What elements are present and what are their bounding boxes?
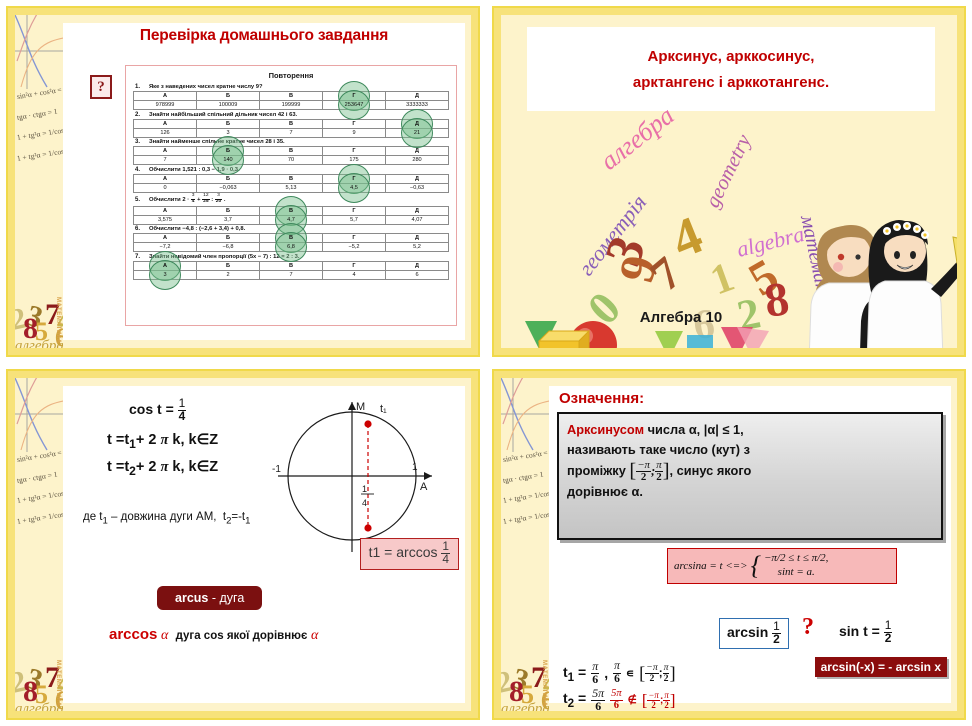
answer-option-value[interactable]: 6,8 [260, 243, 323, 252]
question-text: Обчислити 2 · 34 + 1225 : 320 . [149, 194, 225, 205]
table-row: 714070175280 [134, 156, 449, 165]
answer-option-letter[interactable]: А [134, 119, 197, 128]
homework-sheet-card: Перевірка домашнього завдання ? Повторен… [63, 23, 465, 340]
t1-membership-symbol: ∊ [626, 666, 634, 680]
solution-equation-t2: t =t2+ 2 π k, k∈Z [107, 459, 218, 478]
slide4-inner: sin²α + cos²α = 1 tgα · ctgα = 1 1 + tg²… [501, 378, 957, 711]
fraction-denominator: 6 [613, 674, 621, 686]
t1-member-fraction: π 6 [613, 661, 621, 685]
decor-formula-3: 1 + tg²α = 1/cos²α [502, 509, 549, 525]
decor-formulas: sin²α + cos²α = 1 tgα · ctgα = 1 1 + tg²… [17, 456, 63, 538]
arccos-result-label: t1 = arccos [369, 544, 438, 560]
t1-fraction: π 6 [591, 661, 599, 686]
slide3-frame: sin²α + cos²α = 1 tgα · ctgα = 1 1 + tg²… [6, 369, 480, 720]
answer-option-value[interactable]: 5,7 [323, 215, 386, 224]
svg-text:алгебра: алгебра [15, 338, 63, 348]
slide-arccos: sin²α + cos²α = 1 tgα · ctgα = 1 1 + tg²… [0, 363, 486, 726]
arccos-alpha-symbol: α [161, 628, 168, 643]
question-text: Знайти найбільший спільний дільник чисел… [149, 112, 297, 118]
decor-formula-1: tgα · ctgα = 1 [16, 468, 63, 484]
svg-text:3: 3 [509, 662, 532, 698]
answer-option-letter[interactable]: Б [197, 206, 260, 215]
decoration-column: sin²α + cos²α = 1 tgα · ctgα = 1 1 + tg²… [15, 15, 63, 348]
answer-option-letter[interactable]: Д [386, 92, 449, 101]
slide-arcsin-definition: sin²α + cos²α = 1 tgα · ctgα = 1 1 + tg²… [486, 363, 972, 726]
decor-formula-3: 1 + tg²α = 1/cos²α [16, 146, 63, 162]
answer-option-letter[interactable]: Б [197, 174, 260, 183]
table-row: АБВГД [134, 147, 449, 156]
answer-option-letter[interactable]: Г [323, 261, 386, 270]
solution-equation-t1: t =t1+ 2 π k, k∈Z [107, 432, 218, 451]
decor-formula-1: tgα · ctgα = 1 [502, 468, 549, 484]
decor-formula-1: tgα · ctgα = 1 [16, 105, 63, 121]
t2-fraction: 5π 6 [591, 688, 605, 711]
question-number: 3. [135, 139, 145, 145]
arccos-result-fraction: 1 4 [441, 541, 450, 566]
arccos-result-box: t1 = arccos 1 4 [360, 538, 459, 570]
slide-homework-check: sin²α + cos²α = 1 tgα · ctgα = 1 1 + tg²… [0, 0, 486, 363]
t1-label: t1 = [563, 664, 586, 684]
system-brace-icon: { [751, 557, 761, 575]
arccos-content-card: cos t = 1 4 t =t1+ 2 π k, k∈Z t =t2+ 2 π… [63, 386, 465, 703]
slide4-frame: sin²α + cos²α = 1 tgα · ctgα = 1 1 + tg²… [492, 369, 966, 720]
table-row: 12637921 [134, 128, 449, 137]
answer-option-value[interactable]: 6 [386, 270, 449, 279]
topic-title-line1: Арксинус, арккосинус, [648, 48, 815, 65]
svg-text:t₁: t₁ [380, 403, 387, 415]
slide-deck: sin²α + cos²α = 1 tgα · ctgα = 1 1 + tg²… [0, 0, 972, 726]
answer-option-value[interactable]: 253647 [323, 101, 386, 110]
graph-decor-icon [15, 378, 63, 454]
svg-text:3: 3 [23, 299, 46, 335]
answer-option-letter[interactable]: А [134, 234, 197, 243]
question-prompt: 3.Знайти найменше спільне кратне чисел 2… [135, 139, 449, 145]
svg-text:3: 3 [23, 662, 46, 698]
answer-option-letter[interactable]: Б [197, 92, 260, 101]
svg-text:6: 6 [55, 323, 63, 348]
svg-text:1: 1 [362, 484, 367, 494]
arcus-ukrainian-word: дуга [220, 591, 245, 605]
svg-text:7: 7 [45, 661, 60, 694]
where-note: де t1 – довжина дуги АМ, t2=-t1 [83, 511, 250, 526]
decor-formula-0: sin²α + cos²α = 1 [502, 447, 549, 463]
arcsin-value-box[interactable]: arcsin 1 2 [719, 618, 789, 649]
arcus-definition-pill: arcus - дуга [157, 586, 262, 610]
answer-option-value[interactable]: −5,2 [323, 243, 386, 252]
answer-option-letter[interactable]: Д [386, 174, 449, 183]
answer-option-value[interactable]: 3,575 [134, 215, 197, 224]
t1-comma: , [604, 665, 608, 681]
definition-keyword: Арксинусом [567, 422, 644, 437]
decoration-column: sin²α + cos²α = 1 tgα · ctgα = 1 1 + tg²… [501, 378, 549, 711]
answer-table: АБВГД12637921 [133, 119, 449, 138]
definition-part5: дорівнює α. [567, 484, 643, 499]
answer-option-letter[interactable]: Г [323, 234, 386, 243]
answer-option-letter[interactable]: В [260, 261, 323, 270]
question-mark-icon: ? [802, 614, 814, 641]
table-row: 0−0,0635,134,5−0,63 [134, 183, 449, 192]
table-row: АБВГД [134, 92, 449, 101]
svg-text:7: 7 [45, 298, 60, 331]
svg-text:-1: -1 [272, 464, 281, 475]
answer-option-letter[interactable]: Г [323, 147, 386, 156]
svg-text:4: 4 [362, 498, 367, 508]
arccos-description-alpha: α [311, 628, 318, 643]
slide2-frame: Арксинус, арккосинус, арктангенс і аркко… [492, 6, 966, 357]
decor-vertical-word: МАТЕМАТИКА [55, 660, 61, 707]
table-row: АБВГД [134, 261, 449, 270]
definition-heading: Означення: [559, 390, 644, 407]
question-prompt: 4.Обчислити 1,521 : 0,3 − 1,9 · 0,3. [135, 167, 449, 173]
svg-text:5: 5 [35, 680, 48, 709]
answer-option-value[interactable]: 199999 [260, 101, 323, 110]
answer-option-value[interactable]: 7 [260, 270, 323, 279]
arcsin-odd-property-box: arcsin(-x) = - arcsin x [815, 657, 947, 677]
subject-label: Алгебра 10 [501, 309, 957, 326]
answer-option-letter[interactable]: А [134, 206, 197, 215]
table-row: 32746 [134, 270, 449, 279]
fraction-denominator: 4 [178, 411, 187, 423]
t1-interval: [−π2;π2] [639, 663, 675, 684]
question-prompt: 1.Яке з наведених чисел кратне числу 9? [135, 84, 449, 90]
question-text: Яке з наведених чисел кратне числу 9? [149, 84, 263, 90]
slide-topic-title: Арксинус, арккосинус, арктангенс і аркко… [486, 0, 972, 363]
svg-text:алгебра: алгебра [595, 109, 680, 176]
answer-option-value[interactable]: 100009 [197, 101, 260, 110]
answer-option-value[interactable]: 3,7 [197, 215, 260, 224]
answer-option-value[interactable]: 21 [386, 128, 449, 137]
svg-text:6: 6 [55, 686, 63, 711]
fraction-denominator: 4 [441, 554, 450, 566]
answer-option-value[interactable]: 7 [134, 156, 197, 165]
t2-member-fraction: 5π 6 [610, 689, 623, 711]
answer-option-value[interactable]: 7 [260, 128, 323, 137]
answer-option-letter[interactable]: Д [386, 234, 449, 243]
svg-text:2: 2 [15, 664, 29, 699]
answer-option-value[interactable]: 3 [134, 270, 197, 279]
answer-option-value[interactable]: 4,07 [386, 215, 449, 224]
answer-option-value[interactable]: 140 [197, 156, 260, 165]
answer-option-letter[interactable]: Г [323, 206, 386, 215]
answer-table: АБВГД0−0,0635,134,5−0,63 [133, 174, 449, 193]
answer-table: АБВГД−7,2−6,86,8−5,25,2 [133, 233, 449, 252]
answer-option-letter[interactable]: Д [386, 147, 449, 156]
answer-option-letter[interactable]: В [260, 119, 323, 128]
answer-table: АБВГД714070175280 [133, 146, 449, 165]
numbers-decor-icon: 2 3 8 5 7 4 6 0 алгебра [501, 621, 549, 711]
question-text: Обчислити −4,8 : (−2,6 + 3,4) + 0,8. [149, 226, 245, 232]
table-row: АБВГД [134, 174, 449, 183]
answer-option-value[interactable]: 978999 [134, 101, 197, 110]
graph-decor-icon [501, 378, 549, 454]
definition-part3: проміжку [567, 462, 626, 477]
interval-bracket-left: [ [629, 460, 636, 482]
answer-option-value[interactable]: −0,63 [386, 183, 449, 192]
cos-equation-label: cos t = [129, 401, 174, 417]
answer-table: АБВГД32746 [133, 261, 449, 280]
answer-table: АБВГД9789991000091999992536473333333 [133, 91, 449, 110]
svg-text:4: 4 [663, 204, 711, 270]
table-row: 9789991000091999992536473333333 [134, 101, 449, 110]
svg-text:8: 8 [23, 312, 38, 345]
table-row: −7,2−6,86,8−5,25,2 [134, 243, 449, 252]
decor-formulas: sin²α + cos²α = 1 tgα · ctgα = 1 1 + tg²… [503, 456, 549, 538]
slide1-frame: sin²α + cos²α = 1 tgα · ctgα = 1 1 + tg²… [6, 6, 480, 357]
answer-option-value[interactable]: 5,13 [260, 183, 323, 192]
slide2-inner: Арксинус, арккосинус, арктангенс і аркко… [501, 15, 957, 348]
answer-option-value[interactable]: −0,063 [197, 183, 260, 192]
answer-option-letter[interactable]: Б [197, 261, 260, 270]
decor-formulas: sin²α + cos²α = 1 tgα · ctgα = 1 1 + tg²… [17, 93, 63, 175]
question-number: 6. [135, 226, 145, 232]
arcsin-value-label: arcsin [727, 624, 768, 640]
t2-interval: [−π2;π2] [642, 691, 676, 710]
answer-option-letter[interactable]: В [260, 174, 323, 183]
fraction-denominator: 6 [591, 674, 599, 686]
answer-option-value[interactable]: 9 [323, 128, 386, 137]
t1-solution-row: t1 = π 6 , π 6 ∊ [−π2;π2] [563, 661, 676, 686]
answer-option-letter[interactable]: В [260, 147, 323, 156]
svg-text:5: 5 [521, 680, 534, 709]
svg-text:2: 2 [15, 301, 29, 336]
answer-table: АБВГД3,5753,74,75,74,07 [133, 206, 449, 225]
answer-option-value[interactable]: 0 [134, 183, 197, 192]
decor-formula-3: 1 + tg²α = 1/cos²α [16, 509, 63, 525]
question-number: 5. [135, 197, 145, 203]
t2-label: t2 = [563, 690, 586, 710]
svg-text:6: 6 [541, 686, 549, 711]
quiz-body: 1.Яке з наведених чисел кратне числу 9?А… [133, 84, 449, 280]
sin-equation-fraction: 1 2 [884, 620, 893, 645]
definition-part4: , синус якого [670, 462, 752, 477]
arcus-dash: - [212, 591, 216, 605]
svg-text:8: 8 [23, 675, 38, 708]
answer-option-letter[interactable]: Д [386, 261, 449, 270]
question-number: 1. [135, 84, 145, 90]
answer-option-letter[interactable]: Б [197, 119, 260, 128]
answer-option-value[interactable]: 4,5 [323, 183, 386, 192]
svg-text:A: A [420, 481, 428, 493]
question-mark-icon[interactable]: ? [90, 75, 112, 99]
quiz-sheet: Повторення 1.Яке з наведених чисел кратн… [125, 65, 457, 326]
definition-part1: числа α, |α| ≤ 1, [644, 422, 744, 437]
decor-formula-2: 1 + tg²α = 1/cos²α [16, 125, 63, 141]
cos-equation: cos t = 1 4 [129, 398, 186, 423]
answer-option-value[interactable]: −6,8 [197, 243, 260, 252]
arcsin-condition-1: −π/2 ≤ t ≤ π/2, [764, 552, 828, 566]
fraction-numerator: 5π [610, 689, 623, 701]
decor-formula-2: 1 + tg²α = 1/cos²α [16, 488, 63, 504]
answer-option-value[interactable]: 4 [323, 270, 386, 279]
answer-option-value[interactable]: 280 [386, 156, 449, 165]
answer-option-letter[interactable]: А [134, 147, 197, 156]
cos-equation-fraction: 1 4 [178, 398, 187, 423]
arccos-keyword: arccos [109, 626, 157, 643]
svg-text:8: 8 [509, 675, 524, 708]
t2-solution-row: t2 = 5π 6 5π 6 ∉ [−π2;π2] [563, 688, 676, 711]
answer-option-value[interactable]: 5,2 [386, 243, 449, 252]
numbers-decor-icon: 2 3 8 5 7 4 6 0 алгебра [15, 258, 63, 348]
arccos-meaning-line: arccos α дуга cos якої дорівнює α [109, 626, 318, 644]
fraction-denominator: 2 [772, 634, 781, 646]
answer-option-letter[interactable]: Б [197, 234, 260, 243]
topic-title-line2: арктангенс і арккотангенс. [633, 74, 829, 91]
fraction-denominator: 6 [591, 701, 605, 711]
answer-option-letter[interactable]: А [134, 92, 197, 101]
sin-equation-label: sin t = [839, 623, 880, 639]
arcsin-system-label: arcsina = t <=> [674, 560, 748, 572]
decor-vertical-word: МАТЕМАТИКА [541, 660, 547, 707]
quiz-sheet-title: Повторення [133, 71, 449, 80]
svg-text:geometry: geometry [700, 130, 756, 211]
arcsin-condition-2: sint = a. [764, 566, 828, 580]
answer-option-letter[interactable]: Д [386, 206, 449, 215]
arccos-description: дуга cos якої дорівнює [176, 630, 308, 642]
answer-option-letter[interactable]: В [260, 92, 323, 101]
graph-decor-icon [15, 15, 63, 91]
svg-text:1: 1 [412, 462, 418, 473]
answer-option-value[interactable]: 70 [260, 156, 323, 165]
svg-text:7: 7 [531, 661, 546, 694]
arcsin-content-card: Означення: Арксинусом числа α, |α| ≤ 1, … [549, 386, 951, 703]
svg-text:алгебра: алгебра [15, 701, 63, 711]
svg-text:5: 5 [35, 317, 48, 346]
answer-option-letter[interactable]: А [134, 174, 197, 183]
definition-box: Арксинусом числа α, |α| ≤ 1, називають т… [557, 412, 943, 540]
fraction-denominator: 2 [884, 633, 893, 645]
svg-text:M: M [356, 401, 365, 413]
interval-upper: π2 [655, 460, 662, 483]
question-number: 2. [135, 112, 145, 118]
svg-text:algebra: algebra [734, 221, 806, 262]
page-title: Перевірка домашнього завдання [63, 27, 465, 45]
question-number: 7. [135, 254, 145, 260]
decor-formula-0: sin²α + cos²α = 1 [16, 447, 63, 463]
answer-option-letter[interactable]: Д [386, 119, 449, 128]
svg-text:алгебра: алгебра [501, 701, 549, 711]
definition-part2: називають таке число (кут) з [567, 442, 750, 457]
numbers-decor-icon: 2 3 8 5 7 4 6 0 алгебра [15, 621, 63, 711]
decor-formula-2: 1 + tg²α = 1/cos²α [502, 488, 549, 504]
decoration-column: sin²α + cos²α = 1 tgα · ctgα = 1 1 + tg²… [15, 378, 63, 711]
t2-membership-symbol: ∉ [628, 694, 637, 706]
arcsin-system-formula-box: arcsina = t <=> { −π/2 ≤ t ≤ π/2, sint =… [667, 548, 897, 584]
svg-text:2: 2 [501, 664, 515, 699]
answer-option-letter[interactable]: Г [323, 174, 386, 183]
answer-option-letter[interactable]: Г [323, 119, 386, 128]
answer-option-value[interactable]: 126 [134, 128, 197, 137]
slide3-inner: sin²α + cos²α = 1 tgα · ctgα = 1 1 + tg²… [15, 378, 471, 711]
decor-formula-0: sin²α + cos²α = 1 [16, 84, 63, 100]
question-number: 4. [135, 167, 145, 173]
decor-vertical-word: МАТЕМАТИКА [55, 297, 61, 344]
sin-equation: sin t = 1 2 [839, 620, 892, 645]
interval-bracket-right: ] [663, 460, 670, 482]
solution-t-values: t1 = π 6 , π 6 ∊ [−π2;π2] [563, 661, 676, 711]
topic-title-card: Арксинус, арккосинус, арктангенс і аркко… [527, 27, 935, 111]
arcsin-value-fraction: 1 2 [772, 621, 781, 646]
fraction-denominator: 6 [610, 701, 623, 711]
answer-option-value[interactable]: 2 [197, 270, 260, 279]
slide1-inner: sin²α + cos²α = 1 tgα · ctgα = 1 1 + tg²… [15, 15, 471, 348]
interval-lower: −π2 [636, 460, 651, 483]
arcus-latin-word: arcus [175, 591, 208, 605]
